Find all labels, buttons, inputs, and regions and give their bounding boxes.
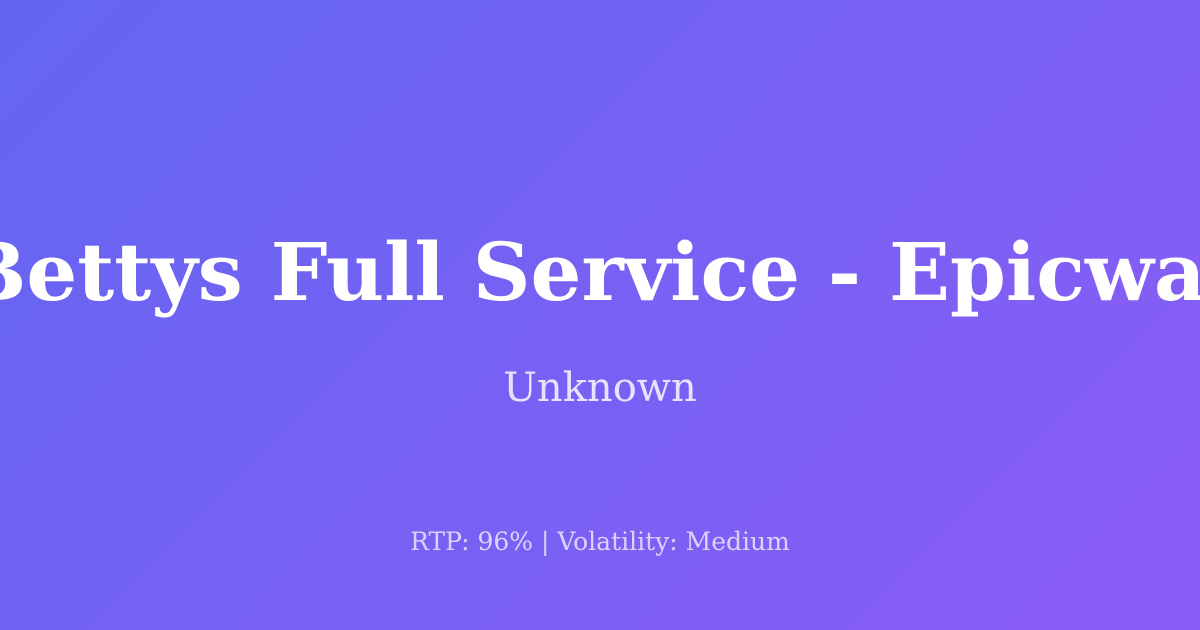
game-title-row: 1F33B0Bettys Full Service - Epicways xyxy=(0,232,1200,312)
game-title-text: Bettys Full Service - Epicways xyxy=(0,225,1200,319)
provider-label: Unknown xyxy=(0,364,1200,412)
game-meta-line: RTP: 96% | Volatility: Medium xyxy=(0,527,1200,557)
game-title: 1F33B0Bettys Full Service - Epicways xyxy=(0,225,1200,319)
og-share-card: 1F33B0Bettys Full Service - Epicways Unk… xyxy=(0,0,1200,630)
